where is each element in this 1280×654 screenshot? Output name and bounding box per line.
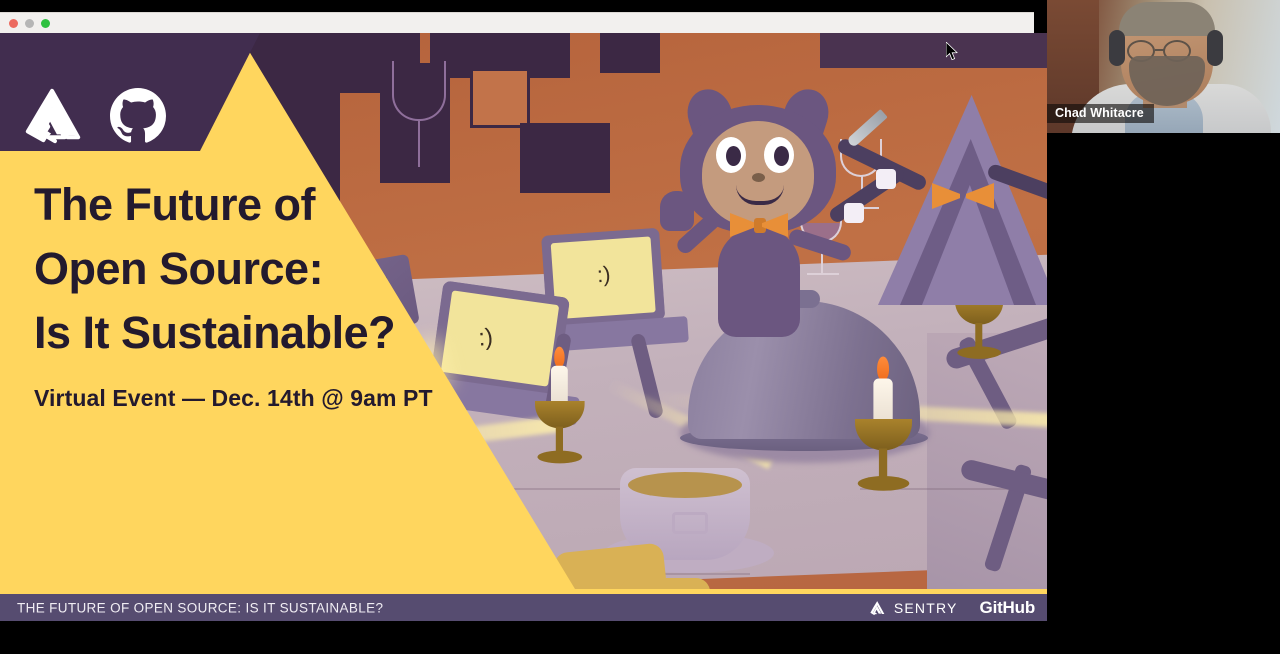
zoom-window-button[interactable] [41,19,50,28]
brand-logo-group [22,87,166,145]
eyeglasses-bridge [1155,49,1165,51]
laptop-face-emoticon: :) [596,261,611,288]
footer-brand-sentry: SENTRY [868,599,958,617]
footer-brand-label: SENTRY [894,600,958,616]
participant-hair [1119,2,1215,36]
octocat-eye [716,137,746,173]
sentry-logo-icon [868,599,887,617]
bow-tie-icon [730,213,788,237]
wall-block [470,68,530,128]
sleeve-cuff [876,169,896,189]
footer-brand-label: GitHub [980,598,1035,618]
window-traffic-lights [9,19,50,28]
window-titlebar[interactable] [0,12,1034,33]
bread [620,578,710,589]
slide-title-line: Is It Sustainable? [34,301,504,365]
participant-name-label: Chad Whitacre [1047,104,1154,123]
octocat-pupil [774,146,789,166]
presentation-slide[interactable]: :) :) [0,33,1047,589]
footer-brand-group: SENTRY GitHub [868,598,1035,618]
slide-footer: THE FUTURE OF OPEN SOURCE: IS IT SUSTAIN… [0,589,1047,621]
application-window: :) :) [0,0,1047,621]
bow-tie-icon [932,183,994,209]
octocat-eye [764,137,794,173]
wall-wine-glass-outline-icon [392,61,446,121]
mouse-cursor [946,42,958,61]
bow-tie-knot [754,218,766,233]
sentry-logo-icon [22,87,84,145]
candle-flame-icon [554,347,564,368]
webcam-tile[interactable]: Chad Whitacre [1047,0,1280,133]
octocat-nose [752,173,765,182]
slide-title-line: The Future of [34,173,504,237]
headphone-earcup-icon [1109,30,1125,66]
github-logo-icon [110,88,166,144]
minimize-window-button[interactable] [25,19,34,28]
candle-foot [858,476,910,491]
screen-root: :) :) [0,0,1280,654]
candle-foot [537,451,582,464]
octocat-mouth [736,185,784,205]
candle-flame-icon [877,356,889,380]
octocat-body [718,227,800,337]
octocat-mascot [668,87,868,317]
octocat-face [702,121,814,227]
wall-block [600,33,660,73]
wall-block [820,33,1047,68]
sentry-mascot [878,95,1047,305]
candle-foot [957,346,1001,358]
footer-title: THE FUTURE OF OPEN SOURCE: IS IT SUSTAIN… [17,600,383,615]
octocat-pupil [726,146,741,166]
slide-title-line: Open Source: [34,237,504,301]
wall-block [520,123,610,193]
close-window-button[interactable] [9,19,18,28]
slide-subtitle: Virtual Event — Dec. 14th @ 9am PT [34,385,433,412]
headphone-earcup-icon [1207,30,1223,66]
slide-title: The Future of Open Source: Is It Sustain… [34,173,504,365]
footer-brand-github: GitHub [980,598,1035,618]
pot-badge [672,512,708,534]
octocat-hand [660,191,694,231]
candle-stem [879,448,887,479]
